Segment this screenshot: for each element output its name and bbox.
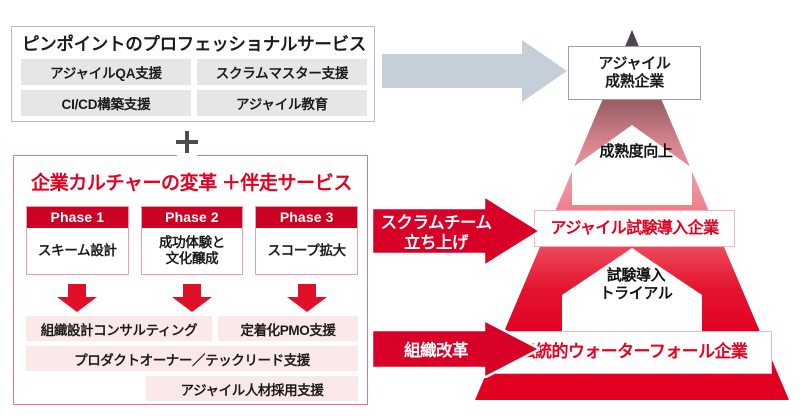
phase-card-1-body: スキーム設計 (27, 228, 128, 274)
support-chip[interactable]: プロダクトオーナー／テックリード支援 (26, 346, 358, 371)
support-row-3: アジャイル人材採用支援 (26, 376, 358, 401)
phase-card-3-body: スコープ拡大 (256, 228, 357, 274)
support-chip-rows: 組織設計コンサルティング 定着化PMO支援 プロダクトオーナー／テックリード支援… (26, 316, 358, 406)
support-chip[interactable]: アジャイル人材採用支援 (146, 376, 358, 401)
services-panel: ピンポイントのプロフェッショナルサービス アジャイルQA支援 スクラムマスター支… (11, 26, 375, 122)
down-arrow-cell-2 (141, 284, 244, 312)
arrow-right-icon-gray (382, 40, 567, 102)
support-row-1: 組織設計コンサルティング 定着化PMO支援 (26, 316, 358, 341)
pyramid-base-label: 伝統的ウォーターフォール企業 (519, 342, 748, 362)
plus-badge (170, 125, 204, 159)
culture-panel: 企業カルチャーの変革 ＋伴走サービス Phase 1 スキーム設計 Phase … (13, 155, 368, 405)
culture-panel-title: 企業カルチャーの変革 ＋伴走サービス (14, 168, 369, 195)
pyramid-top-label-line1: アジャイル (598, 55, 670, 72)
pyramid-middle-label: アジャイル試験導入企業 (551, 219, 719, 238)
pyramid-top-label-line2: 成熟企業 (605, 73, 664, 90)
services-panel-title: ピンポイントのプロフェッショナルサービス (12, 31, 376, 56)
plus-icon (175, 130, 199, 154)
phase-card-2[interactable]: Phase 2 成功体験と 文化醸成 (141, 206, 244, 275)
arrow-down-icon (172, 284, 212, 312)
diagram-canvas: アジャイル 成熟企業 成熟度向上 アジャイル試験導入企業 試験導入 トライアル … (0, 0, 800, 420)
phase-card-row: Phase 1 スキーム設計 Phase 2 成功体験と 文化醸成 Phase … (26, 206, 358, 275)
service-chip[interactable]: スクラムマスター支援 (197, 59, 367, 85)
phase-card-2-body-line2: 文化醸成 (166, 251, 219, 266)
support-chip[interactable]: 組織設計コンサルティング (26, 316, 212, 341)
phase-card-2-header: Phase 2 (142, 207, 243, 228)
phase-down-arrow-row (26, 284, 358, 312)
down-arrow-cell-3 (255, 284, 358, 312)
arrow-right-icon-reform (372, 320, 540, 378)
pyramid-top-label-box: アジャイル 成熟企業 (568, 46, 701, 100)
phase-card-3[interactable]: Phase 3 スコープ拡大 (255, 206, 358, 275)
phase-card-2-body: 成功体験と 文化醸成 (142, 228, 243, 274)
down-arrow-cell-1 (26, 284, 129, 312)
arrow-down-icon (287, 284, 327, 312)
phase-card-1[interactable]: Phase 1 スキーム設計 (26, 206, 129, 275)
service-chip[interactable]: CI/CD構築支援 (21, 90, 191, 116)
support-chip[interactable]: 定着化PMO支援 (218, 316, 358, 341)
pyramid-middle-label-box: アジャイル試験導入企業 (534, 210, 735, 247)
services-chip-grid: アジャイルQA支援 スクラムマスター支援 CI/CD構築支援 アジャイル教育 (21, 59, 367, 116)
arrow-right-icon-scrum (372, 196, 540, 266)
connector-scrum-arrow: スクラムチーム 立ち上げ (372, 196, 540, 271)
phase-card-2-body-line1: 成功体験と (159, 235, 225, 250)
service-chip[interactable]: アジャイル教育 (197, 90, 367, 116)
connector-reform-arrow: 組織改革 (372, 320, 540, 383)
support-row-2: プロダクトオーナー／テックリード支援 (26, 346, 358, 371)
phase-card-1-header: Phase 1 (27, 207, 128, 228)
arrow-down-icon (57, 284, 97, 312)
phase-card-3-header: Phase 3 (256, 207, 357, 228)
service-chip[interactable]: アジャイルQA支援 (21, 59, 191, 85)
